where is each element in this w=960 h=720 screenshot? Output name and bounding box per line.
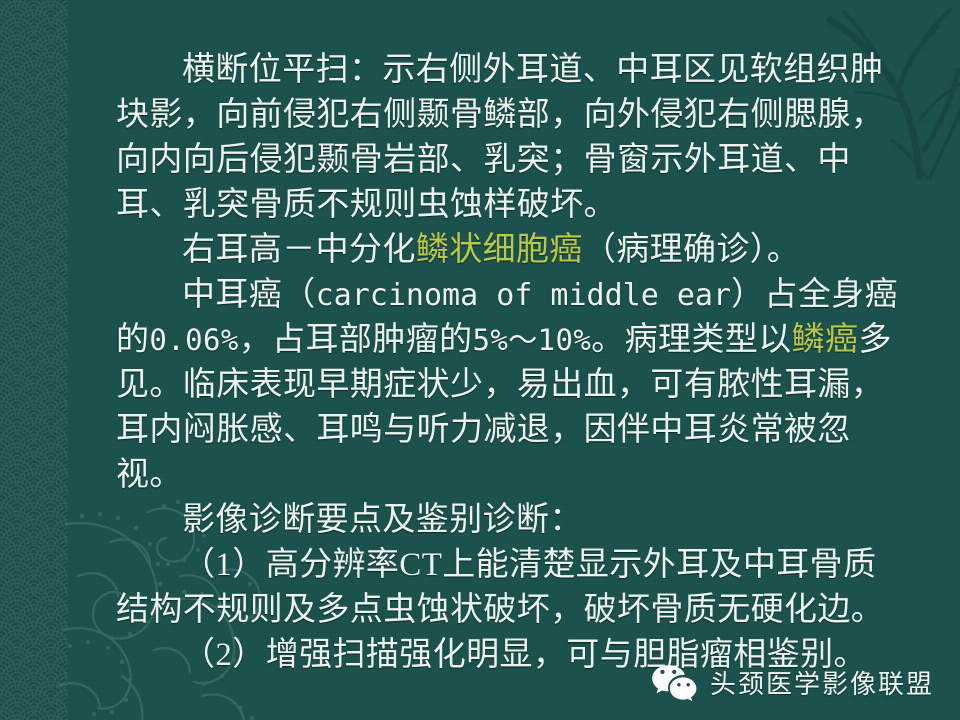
- wechat-logo-icon: [650, 662, 698, 702]
- footer-brand: 头颈医学影像联盟: [650, 662, 934, 702]
- paragraph-imaging-point-1: （1）高分辨率CT上能清楚显示外耳及中耳骨质结构不规则及多点虫蚀状破坏，破坏骨质…: [116, 543, 906, 633]
- epi-seg-4: 。病理类型以: [591, 322, 791, 358]
- point-1-marker: （1）: [182, 547, 266, 583]
- epi-seg-3: ，占耳部肿瘤的: [239, 322, 473, 358]
- epi-highlight: 鳞癌: [792, 322, 859, 358]
- point-2-marker: （2）: [182, 637, 266, 673]
- pathology-suffix: （病理确诊）。: [583, 232, 800, 268]
- paragraph-imaging-heading: 影像诊断要点及鉴别诊断：: [116, 498, 906, 543]
- epi-incidence-ear-tumor: 5%～10%: [473, 323, 592, 357]
- pathology-highlight: 鳞状细胞癌: [416, 232, 583, 268]
- seigaiha-arcs: [0, 0, 68, 720]
- epi-incidence-all-cancer: 0.06%: [149, 323, 238, 357]
- footer-label: 头颈医学影像联盟: [710, 664, 934, 701]
- paragraph-epidemiology: 中耳癌（carcinoma of middle ear）占全身癌的0.06%，占…: [116, 273, 906, 498]
- paragraph-findings: 横断位平扫：示右侧外耳道、中耳区见软组织肿块影，向前侵犯右侧颞骨鳞部，向外侵犯右…: [116, 48, 906, 228]
- seigaiha-pattern-strip: [0, 0, 68, 720]
- slide-canvas: 横断位平扫：示右侧外耳道、中耳区见软组织肿块影，向前侵犯右侧颞骨鳞部，向外侵犯右…: [0, 0, 960, 720]
- epi-seg-1: 中耳癌（: [182, 277, 316, 313]
- pathology-prefix: 右耳高－中分化: [182, 232, 416, 268]
- epi-latin-term: carcinoma of middle ear: [316, 278, 731, 313]
- slide-body: 横断位平扫：示右侧外耳道、中耳区见软组织肿块影，向前侵犯右侧颞骨鳞部，向外侵犯右…: [116, 48, 906, 678]
- paragraph-pathology: 右耳高－中分化鳞状细胞癌（病理确诊）。: [116, 228, 906, 273]
